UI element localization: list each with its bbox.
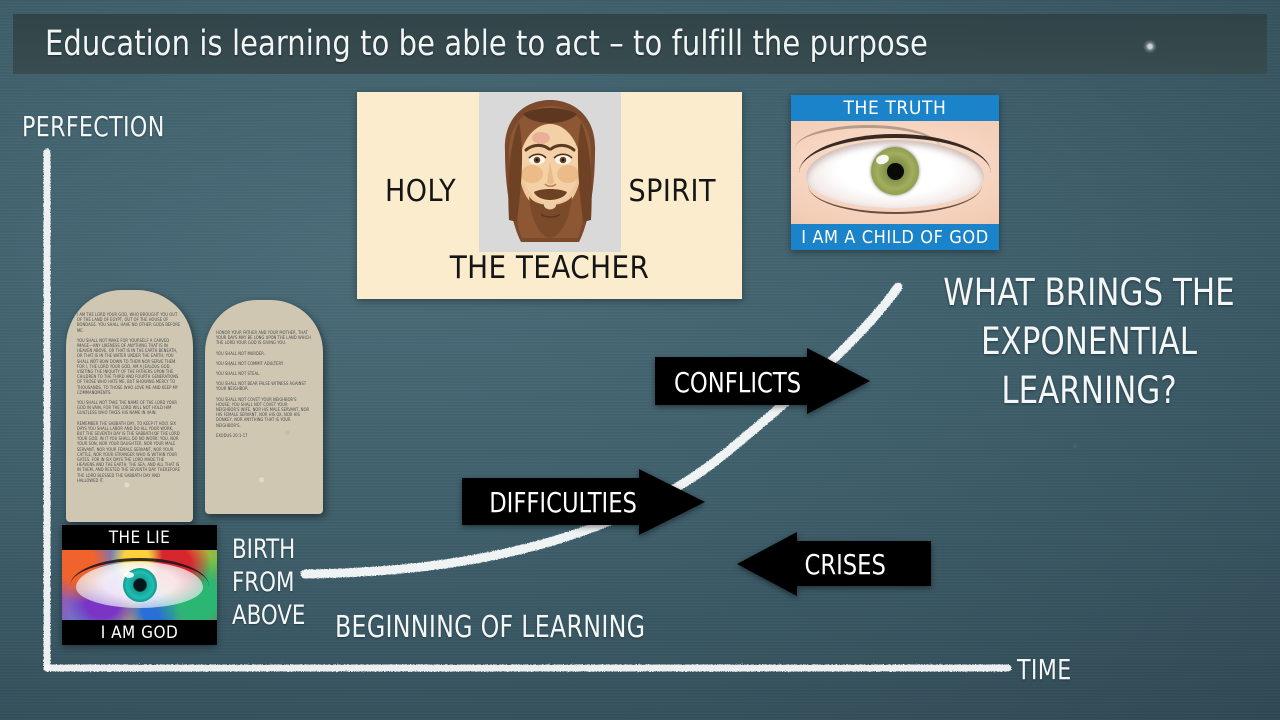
arrow-conflicts: CONFLICTS: [655, 357, 870, 405]
truth-card-header: THE TRUTH: [791, 95, 999, 121]
tablet-paragraph: I AM THE LORD YOUR GOD, WHO BROUGHT YOU …: [77, 312, 182, 333]
tablet-paragraph: YOU SHALL NOT COMMIT ADULTERY.: [216, 361, 312, 366]
jesus-portrait-icon: [479, 92, 621, 252]
arrow-label: DIFFICULTIES: [489, 486, 637, 519]
green-eye-photo-icon: [791, 121, 999, 224]
arrow-crises: CRISES: [737, 541, 931, 586]
axis-label-time: TIME: [1017, 653, 1072, 686]
title-band: Education is learning to be able to act …: [13, 14, 1267, 74]
tablet-paragraph: YOU SHALL NOT MURDER.: [216, 351, 312, 356]
origin-label: BIRTH FROM ABOVE: [232, 533, 305, 632]
tablet-right-text: HONOR YOUR FATHER AND YOUR MOTHER, THAT …: [205, 300, 323, 438]
arrow-head-left-icon: [737, 532, 797, 596]
question-text: WHAT BRINGS THE EXPONENTIAL LEARNING?: [906, 268, 1272, 415]
teacher-panel: HOLY SPIRIT THE TEACHER: [357, 92, 742, 299]
question-line-3: LEARNING?: [919, 366, 1259, 415]
teacher-panel-word-holy: HOLY: [385, 174, 456, 209]
arrow-label: CRISES: [805, 548, 886, 581]
baseline-label: BEGINNING OF LEARNING: [335, 610, 645, 645]
lie-card: THE LIE I AM GOD: [62, 525, 217, 645]
lie-card-footer: I AM GOD: [62, 620, 217, 645]
tablet-paragraph: YOU SHALL NOT MAKE FOR YOURSELF A CARVED…: [77, 338, 182, 395]
arrow-head-right-icon: [807, 348, 870, 414]
truth-card: THE TRUTH I AM A CHILD OF GOD: [791, 95, 999, 250]
tablet-paragraph: YOU SHALL NOT TAKE THE NAME OF THE LORD …: [77, 400, 182, 416]
teacher-panel-word-spirit: SPIRIT: [628, 174, 716, 209]
psychedelic-eye-photo-icon: [62, 550, 217, 620]
page-title: Education is learning to be able to act …: [45, 24, 928, 64]
tablet-paragraph: YOU SHALL NOT COVET YOUR NEIGHBOR'S HOUS…: [216, 397, 312, 428]
lie-card-header: THE LIE: [62, 525, 217, 550]
stone-tablet-right: HONOR YOUR FATHER AND YOUR MOTHER, THAT …: [205, 300, 323, 514]
question-line-2: EXPONENTIAL: [919, 317, 1259, 366]
origin-label-line-2: FROM: [232, 566, 305, 599]
tablet-paragraph: REMEMBER THE SABBATH DAY, TO KEEP IT HOL…: [77, 421, 182, 483]
stone-tablet-left: I AM THE LORD YOUR GOD, WHO BROUGHT YOU …: [66, 290, 193, 522]
tablet-left-text: I AM THE LORD YOUR GOD, WHO BROUGHT YOU …: [66, 290, 193, 483]
tablet-paragraph: YOU SHALL NOT STEAL.: [216, 371, 312, 376]
arrow-head-right-icon: [639, 469, 705, 535]
teacher-panel-caption: THE TEACHER: [357, 250, 742, 286]
tablet-paragraph: YOU SHALL NOT BEAR FALSE WITNESS AGAINST…: [216, 381, 312, 391]
chalk-smudge-icon: [1143, 40, 1157, 53]
truth-card-footer: I AM A CHILD OF GOD: [791, 224, 999, 250]
arrow-difficulties: DIFFICULTIES: [462, 478, 705, 525]
slide-canvas: Education is learning to be able to act …: [0, 0, 1280, 720]
axis-label-perfection: PERFECTION: [22, 110, 165, 143]
origin-label-line-3: ABOVE: [232, 599, 305, 632]
tablet-scripture-reference: EXODUS 20:1-17: [216, 433, 312, 438]
origin-label-line-1: BIRTH: [232, 533, 305, 566]
arrow-label: CONFLICTS: [674, 366, 801, 399]
exponential-curve: [305, 287, 898, 574]
question-line-1: WHAT BRINGS THE: [919, 268, 1259, 317]
tablet-paragraph: HONOR YOUR FATHER AND YOUR MOTHER, THAT …: [216, 330, 312, 346]
